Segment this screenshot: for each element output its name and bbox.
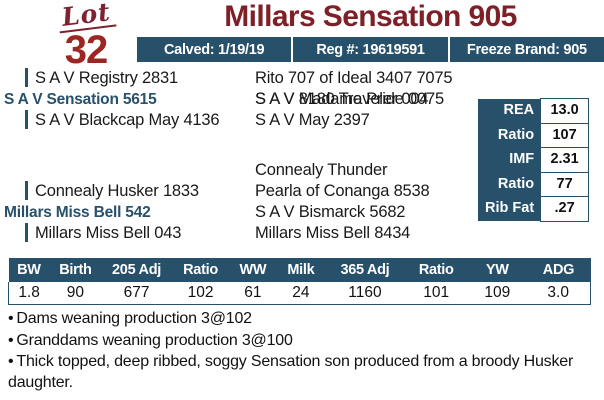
dam-name: Millars Miss Bell 542 <box>0 202 255 223</box>
pedigree-row: S A V Blackcap May 4136 S A V May 2397 <box>0 110 470 131</box>
cell-adg: 3.0 <box>526 282 590 304</box>
table-row: Ratio 77 <box>478 172 589 197</box>
ultrasound-table: REA 13.0 Ratio 107 IMF 2.31 Ratio 77 Rib… <box>478 98 589 222</box>
cell-milk: 24 <box>276 282 325 304</box>
pedigree-row: Millars Miss Bell 043 Millars Miss Bell … <box>0 223 470 244</box>
col-header-milk: Milk <box>276 258 325 282</box>
ultrasound-value-rib-fat: .27 <box>541 197 589 222</box>
page-title: Millars Sensation 905 <box>137 1 604 33</box>
cell-birth: 90 <box>49 282 101 304</box>
dam-grandsire-spacer <box>0 160 255 181</box>
ultrasound-label-rib-fat: Rib Fat <box>478 197 541 222</box>
list-item: •Thick topped, deep ribbed, soggy Sensat… <box>8 352 598 393</box>
performance-table: BW Birth 205 Adj Ratio WW Milk 365 Adj R… <box>8 258 591 305</box>
cell-yw-ratio: 101 <box>404 282 468 304</box>
bracket-icon <box>25 68 28 87</box>
cell-365-adj: 1160 <box>326 282 405 304</box>
dam-great-3: S A V Bismarck 5682 <box>255 202 470 223</box>
pedigree-dam-group: Connealy Thunder Connealy Husker 1833 Pe… <box>0 160 470 244</box>
col-header-ww-ratio: Ratio <box>171 258 229 282</box>
sire-great-1: Rito 707 of Ideal 3407 7075 <box>255 68 470 89</box>
bracket-icon <box>25 181 28 200</box>
sire-great-4: S A V May 2397 <box>255 110 470 131</box>
col-header-yw-ratio: Ratio <box>404 258 468 282</box>
dam-grandsire: Connealy Husker 1833 <box>0 181 255 202</box>
pedigree-row: Millars Miss Bell 542 S A V Bismarck 568… <box>0 202 470 223</box>
ultrasound-value-rea-ratio: 107 <box>541 123 589 148</box>
table-row: Ratio 107 <box>478 123 589 148</box>
ultrasound-label-imf-ratio: Ratio <box>478 172 541 197</box>
cell-ww: 61 <box>230 282 277 304</box>
cell-ww-ratio: 102 <box>171 282 229 304</box>
info-cell-freeze-brand: Freeze Brand: 905 <box>450 37 604 62</box>
bracket-icon <box>25 110 28 129</box>
sire-great-3: S A V 8180 Traveler 004 <box>255 89 470 110</box>
bullet-icon: • <box>8 353 13 370</box>
pedigree-row: Connealy Husker 1833 Pearla of Conanga 8… <box>0 181 470 202</box>
col-header-adg: ADG <box>526 258 590 282</box>
list-item: •Granddams weaning production 3@100 <box>8 331 598 352</box>
ultrasound-value-imf: 2.31 <box>541 148 589 173</box>
list-item: •Dams weaning production 3@102 <box>8 309 598 330</box>
cell-bw: 1.8 <box>9 282 50 304</box>
col-header-ww: WW <box>230 258 277 282</box>
note-text: Dams weaning production 3@102 <box>16 310 251 327</box>
bullet-icon: • <box>8 310 13 327</box>
dam-great-1: Connealy Thunder <box>255 160 470 181</box>
note-text: Thick topped, deep ribbed, soggy Sensati… <box>8 353 573 391</box>
dam-granddam: Millars Miss Bell 043 <box>0 223 255 244</box>
sire-grandsire: S A V Registry 2831 <box>0 68 255 89</box>
ultrasound-value-rea: 13.0 <box>541 99 589 124</box>
ultrasound-value-imf-ratio: 77 <box>541 172 589 197</box>
lot-number: 32 <box>36 32 136 69</box>
bracket-icon <box>25 223 28 242</box>
notes-list: •Dams weaning production 3@102 •Granddam… <box>8 309 598 394</box>
bullet-icon: • <box>8 332 13 349</box>
lot-badge: Lot 32 <box>36 2 136 69</box>
sire-name: S A V Sensation 5615 <box>0 89 255 110</box>
col-header-bw: BW <box>9 258 50 282</box>
col-header-yw: YW <box>468 258 526 282</box>
animal-info-bar: Calved: 1/19/19 Reg #: 19619591 Freeze B… <box>137 37 604 62</box>
pedigree-sire-group: S A V Registry 2831 Rito 707 of Ideal 34… <box>0 68 470 131</box>
table-row: REA 13.0 <box>478 99 589 124</box>
lot-page: Lot 32 Millars Sensation 905 Calved: 1/1… <box>0 0 604 400</box>
pedigree-row: S A V Registry 2831 Rito 707 of Ideal 34… <box>0 68 470 89</box>
cell-yw: 109 <box>468 282 526 304</box>
ultrasound-label-imf: IMF <box>478 148 541 173</box>
col-header-205-adj: 205 Adj <box>102 258 172 282</box>
sire-granddam: S A V Blackcap May 4136 <box>0 110 255 131</box>
col-header-birth: Birth <box>49 258 101 282</box>
cell-205-adj: 677 <box>102 282 172 304</box>
table-row: Rib Fat .27 <box>478 197 589 222</box>
table-row: IMF 2.31 <box>478 148 589 173</box>
pedigree-row: S A V Sensation 5615 S A V 8180 Traveler… <box>0 89 470 110</box>
dam-great-2: Pearla of Conanga 8538 <box>255 181 470 202</box>
col-header-365-adj: 365 Adj <box>326 258 405 282</box>
table-row: 1.8 90 677 102 61 24 1160 101 109 3.0 <box>9 282 591 304</box>
ultrasound-label-rea: REA <box>478 99 541 124</box>
pedigree-row: Connealy Thunder <box>0 160 470 181</box>
dam-great-4: Millars Miss Bell 8434 <box>255 223 470 244</box>
table-header-row: BW Birth 205 Adj Ratio WW Milk 365 Adj R… <box>9 258 591 282</box>
note-text: Granddams weaning production 3@100 <box>16 332 292 349</box>
info-cell-registration: Reg #: 19619591 <box>293 37 447 62</box>
info-cell-calved: Calved: 1/19/19 <box>137 37 291 62</box>
ultrasound-label-rea-ratio: Ratio <box>478 123 541 148</box>
